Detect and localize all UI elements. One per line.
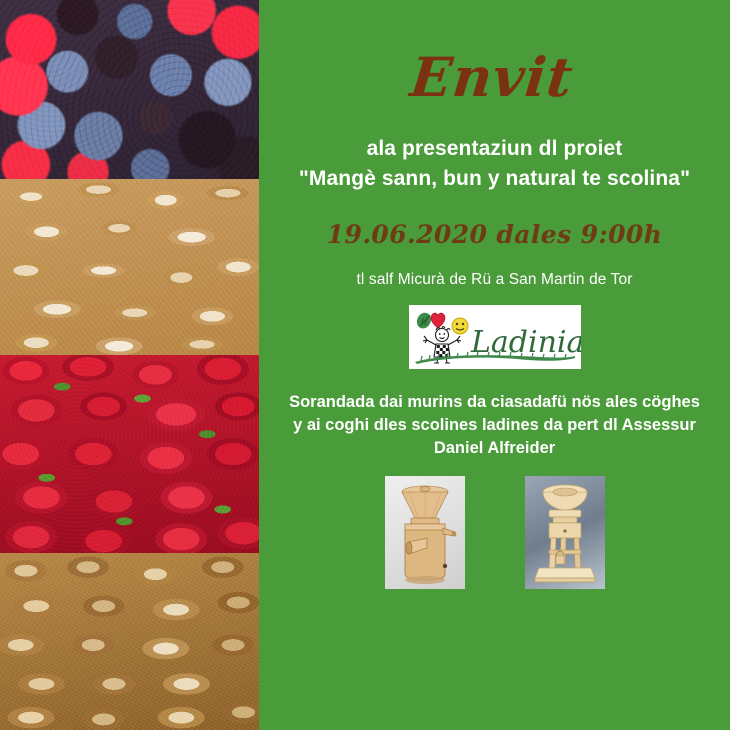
smiley-icon xyxy=(452,318,468,334)
subtitle-line-1: ala presentaziun dl proiet xyxy=(367,137,623,160)
photo-walnuts xyxy=(0,553,259,730)
photo-mixed-berries xyxy=(0,0,259,179)
ladinia-logo: Ladinia xyxy=(409,305,581,369)
poster-title: Envit xyxy=(254,0,730,104)
mill-photos xyxy=(259,476,730,589)
leaf-icon xyxy=(416,312,430,328)
photo-strip xyxy=(0,0,259,730)
berries-texture xyxy=(0,0,259,179)
subtitle-line-2: "Mangè sann, bun y natural te scolina" xyxy=(299,167,690,190)
heart-icon xyxy=(431,313,445,328)
event-date: 19.06.2020 dales 9:00h xyxy=(259,194,730,249)
strawberries-texture xyxy=(0,355,259,553)
ladinia-wordmark: Ladinia xyxy=(470,325,581,360)
photo-grain-mill-tall xyxy=(385,476,465,589)
poster: Envit ala presentaziun dl proiet "Mangè … xyxy=(0,0,730,730)
walnuts-texture xyxy=(0,553,259,730)
event-location: tl salf Micurà de Rü a San Martin de Tor xyxy=(259,249,730,289)
credits-text: Sorandada dai murins da ciasadafü nös al… xyxy=(259,369,730,460)
photo-strawberries xyxy=(0,355,259,553)
photo-grain-mill-stand xyxy=(525,476,605,589)
photo-oat-flakes xyxy=(0,179,259,355)
poster-subtitle: ala presentaziun dl proiet "Mangè sann, … xyxy=(259,104,730,194)
poster-content: Envit ala presentaziun dl proiet "Mangè … xyxy=(259,0,730,730)
oats-texture xyxy=(0,179,259,355)
